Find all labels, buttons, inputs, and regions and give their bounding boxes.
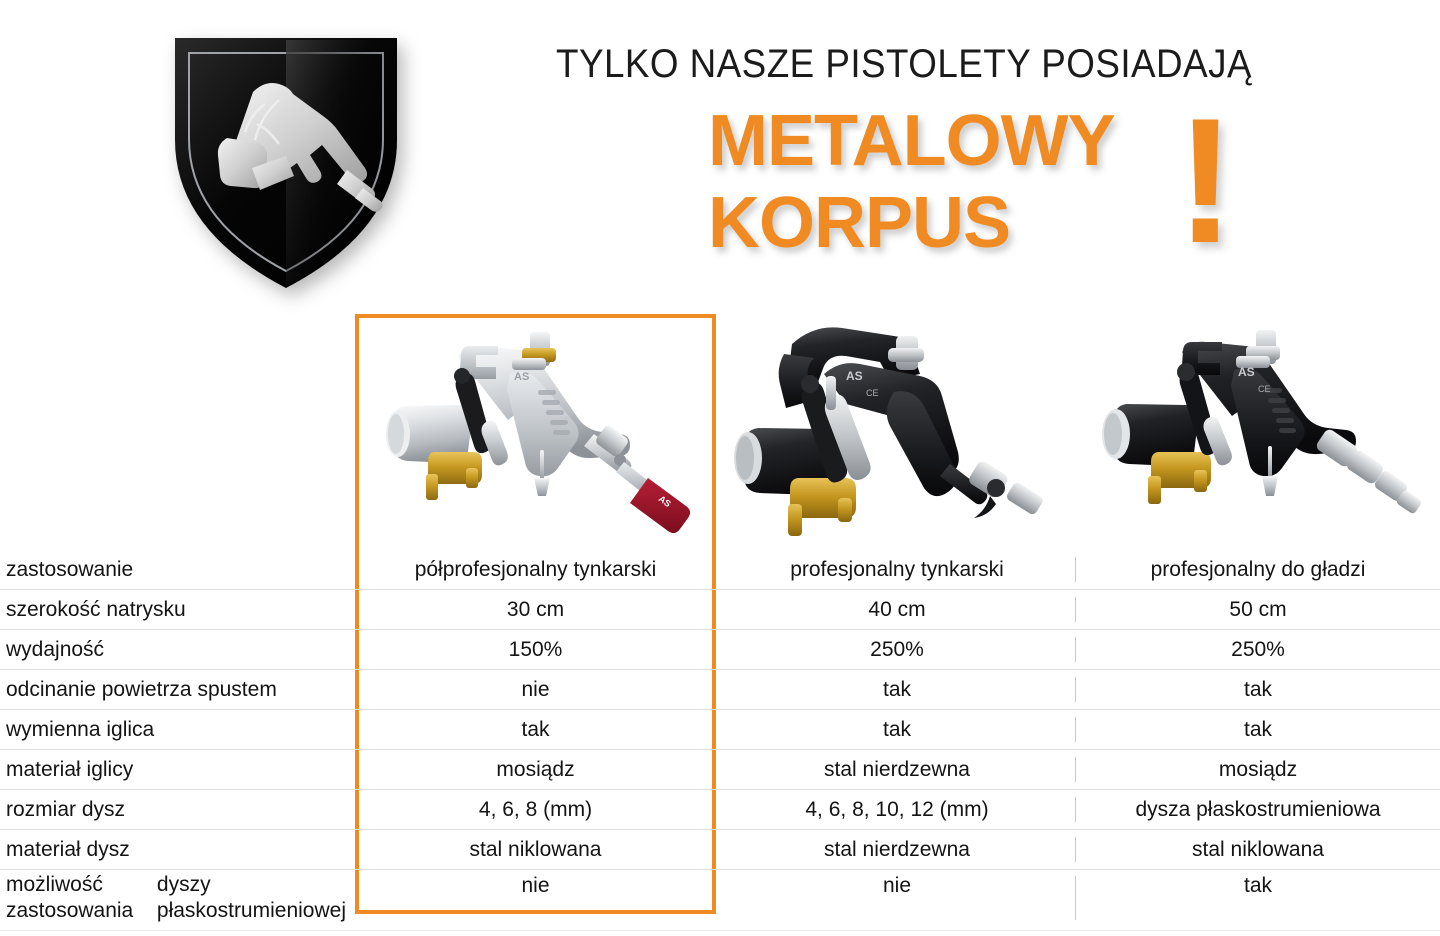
row-value-col2: stal nierdzewna [722, 830, 1072, 869]
shield-spray-gun-logo-icon [157, 20, 415, 298]
product-image-1[interactable]: AS AS [362, 318, 712, 550]
row-value-col2: tak [722, 710, 1072, 749]
row-value-col3: 250% [1078, 630, 1438, 669]
row-label: zastosowanie [6, 550, 346, 589]
product-image-3[interactable]: AS CE [1086, 318, 1436, 550]
table-row: możliwość zastosowania dyszy płaskostrum… [0, 870, 1440, 931]
spray-gun-silver-icon: AS AS [362, 318, 712, 550]
svg-text:CE: CE [866, 388, 879, 398]
row-value-col2: stal nierdzewna [722, 750, 1072, 789]
table-row: wymienna iglica tak tak tak [0, 710, 1440, 750]
row-value-col2: 40 cm [722, 590, 1072, 629]
row-value-col1: 150% [359, 630, 712, 669]
table-row: materiał dysz stal niklowana stal nierdz… [0, 830, 1440, 870]
row-label: wydajność [6, 630, 346, 669]
column-divider [1075, 717, 1076, 742]
table-row: szerokość natrysku 30 cm 40 cm 50 cm [0, 590, 1440, 630]
row-label: rozmiar dysz [6, 790, 346, 829]
comparison-infographic: TYLKO NASZE PISTOLETY POSIADAJĄ METALOWY… [0, 0, 1440, 936]
column-divider [1075, 597, 1076, 622]
row-label-line-2: dyszy płaskostrumieniowej [157, 872, 346, 924]
table-row: materiał iglicy mosiądz stal nierdzewna … [0, 750, 1440, 790]
row-value-col3: tak [1078, 870, 1438, 934]
table-row: wydajność 150% 250% 250% [0, 630, 1440, 670]
row-value-col1: półprofesjonalny tynkarski [359, 550, 712, 589]
row-value-col1: nie [359, 870, 712, 934]
column-divider [1075, 837, 1076, 862]
product-images-row: AS AS [0, 318, 1440, 550]
row-value-col3: 50 cm [1078, 590, 1438, 629]
product-image-2[interactable]: AS CE [728, 318, 1072, 550]
row-value-col2: profesjonalny tynkarski [722, 550, 1072, 589]
row-value-col2: 250% [722, 630, 1072, 669]
svg-text:CE: CE [1258, 384, 1271, 394]
table-row: odcinanie powietrza spustem nie tak tak [0, 670, 1440, 710]
row-label: szerokość natrysku [6, 590, 346, 629]
row-value-col1: mosiądz [359, 750, 712, 789]
exclamation-mark: ! [1176, 92, 1235, 270]
header-headline: METALOWY KORPUS ! [700, 100, 1260, 280]
row-value-col3: profesjonalny do gładzi [1078, 550, 1438, 589]
row-value-col1: nie [359, 670, 712, 709]
row-value-col1: 30 cm [359, 590, 712, 629]
svg-text:AS: AS [846, 369, 863, 383]
row-label: materiał iglicy [6, 750, 346, 789]
row-label: możliwość zastosowania dyszy płaskostrum… [6, 870, 346, 932]
column-divider [1075, 876, 1076, 920]
row-value-col1: 4, 6, 8 (mm) [359, 790, 712, 829]
row-value-col1: tak [359, 710, 712, 749]
column-divider [1075, 677, 1076, 702]
svg-text:AS: AS [1238, 365, 1255, 379]
row-value-col2: nie [722, 870, 1072, 934]
column-divider [1075, 757, 1076, 782]
row-label: wymienna iglica [6, 710, 346, 749]
row-label: odcinanie powietrza spustem [6, 670, 346, 709]
brand-logo [157, 20, 415, 298]
comparison-table: zastosowanie półprofesjonalny tynkarski … [0, 550, 1440, 931]
row-value-col3: tak [1078, 670, 1438, 709]
row-label-line-1: możliwość zastosowania [6, 872, 157, 924]
row-value-col1: stal niklowana [359, 830, 712, 869]
row-value-col3: mosiądz [1078, 750, 1438, 789]
table-row: zastosowanie półprofesjonalny tynkarski … [0, 550, 1440, 590]
column-divider [1075, 797, 1076, 822]
row-value-col3: tak [1078, 710, 1438, 749]
column-divider [1075, 637, 1076, 662]
row-value-col2: tak [722, 670, 1072, 709]
column-divider [1075, 557, 1076, 582]
spray-gun-black-gladz-icon: AS CE [1086, 318, 1436, 550]
row-label: materiał dysz [6, 830, 346, 869]
row-value-col3: dysza płaskostrumieniowa [1078, 790, 1438, 829]
row-value-col2: 4, 6, 8, 10, 12 (mm) [722, 790, 1072, 829]
table-row: rozmiar dysz 4, 6, 8 (mm) 4, 6, 8, 10, 1… [0, 790, 1440, 830]
spray-gun-black-pro-icon: AS CE [728, 318, 1072, 550]
svg-text:AS: AS [514, 371, 529, 383]
row-value-col3: stal niklowana [1078, 830, 1438, 869]
